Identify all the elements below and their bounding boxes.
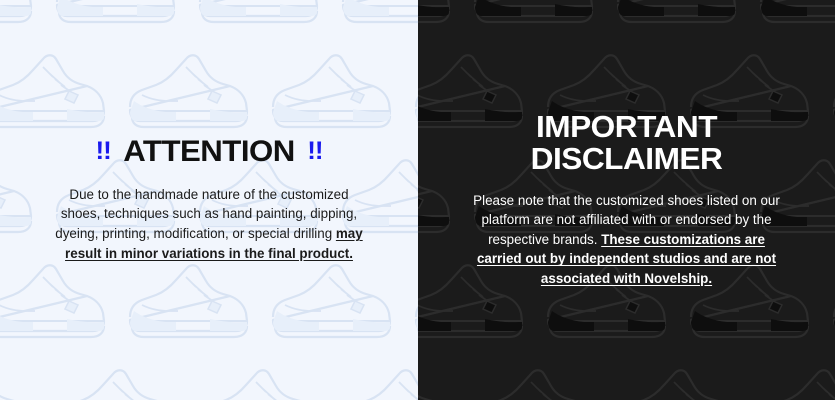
attention-body: Due to the handmade nature of the custom… (54, 185, 364, 263)
disclaimer-panel: IMPORTANT DISCLAIMER Please note that th… (418, 0, 835, 400)
attention-content: !! ATTENTION !! Due to the handmade natu… (0, 137, 418, 263)
disclaimer-heading-line2: DISCLAIMER (444, 143, 808, 175)
double-exclamation-right-icon: !! (307, 139, 322, 164)
attention-heading: !! ATTENTION !! (23, 137, 395, 167)
disclaimer-body: Please note that the customized shoes li… (467, 191, 787, 289)
attention-panel: !! ATTENTION !! Due to the handmade natu… (0, 0, 418, 400)
disclaimer-banner: !! ATTENTION !! Due to the handmade natu… (0, 0, 835, 400)
attention-body-normal: Due to the handmade nature of the custom… (55, 187, 357, 241)
attention-heading-text: ATTENTION (123, 137, 295, 167)
disclaimer-content: IMPORTANT DISCLAIMER Please note that th… (418, 111, 835, 288)
disclaimer-heading: IMPORTANT DISCLAIMER (444, 111, 808, 174)
double-exclamation-left-icon: !! (96, 139, 111, 164)
disclaimer-heading-line1: IMPORTANT (536, 109, 717, 144)
